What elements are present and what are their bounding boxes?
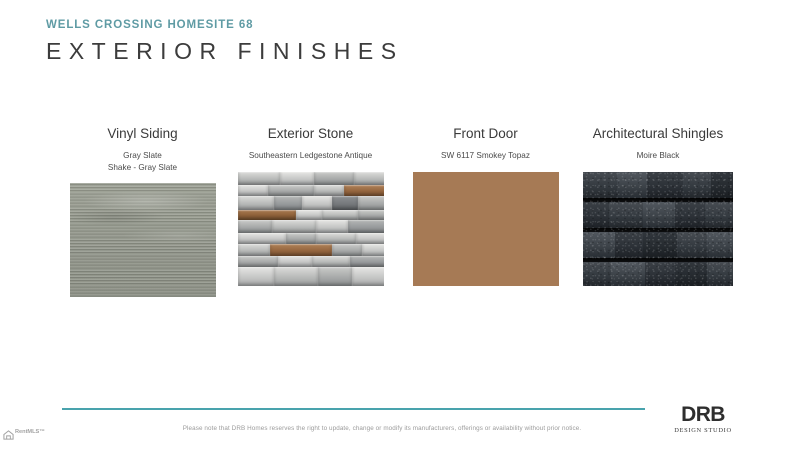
exterior-finishes-slide: WELLS CROSSING HOMESITE 68 EXTERIOR FINI… <box>0 0 800 450</box>
finish-column-vinyl-siding: Vinyl Siding Gray Slate Shake - Gray Sla… <box>65 126 220 297</box>
finish-column-architectural-shingles: Architectural Shingles Moire Black <box>578 126 738 286</box>
front-door-swatch <box>413 172 559 286</box>
mls-watermark-text: RentMLS™ <box>15 429 45 436</box>
finish-title: Architectural Shingles <box>578 126 738 142</box>
finish-subline: Gray Slate <box>65 150 220 162</box>
finish-sublines: Southeastern Ledgestone Antique <box>233 150 388 162</box>
footer-divider <box>62 408 645 410</box>
finish-title: Vinyl Siding <box>65 126 220 142</box>
finish-subline: SW 6117 Smokey Topaz <box>408 150 563 162</box>
architectural-shingles-swatch <box>583 172 733 286</box>
finish-sublines: Moire Black <box>578 150 738 162</box>
finish-column-exterior-stone: Exterior Stone Southeastern Ledgestone A… <box>233 126 388 286</box>
vinyl-siding-swatch <box>70 183 216 297</box>
finish-subline: Moire Black <box>578 150 738 162</box>
page-title: EXTERIOR FINISHES <box>46 37 404 65</box>
finish-subline: Southeastern Ledgestone Antique <box>233 150 388 162</box>
finish-sublines: SW 6117 Smokey Topaz <box>408 150 563 162</box>
finish-title: Exterior Stone <box>233 126 388 142</box>
exterior-stone-swatch <box>238 172 384 286</box>
mls-watermark: RentMLS™ <box>3 427 45 438</box>
drb-logo-mark: DRB <box>660 404 746 426</box>
slide-header: WELLS CROSSING HOMESITE 68 EXTERIOR FINI… <box>46 18 404 65</box>
finish-subline: Shake - Gray Slate <box>65 162 220 174</box>
house-icon <box>3 427 14 438</box>
drb-design-studio-logo: DRB DESIGN STUDIO <box>660 404 746 435</box>
drb-logo-subtitle: DESIGN STUDIO <box>660 427 746 435</box>
footer-disclaimer-text: Please note that DRB Homes reserves the … <box>183 424 582 433</box>
finish-sublines: Gray Slate Shake - Gray Slate <box>65 150 220 173</box>
finish-column-front-door: Front Door SW 6117 Smokey Topaz <box>408 126 563 286</box>
homesite-kicker: WELLS CROSSING HOMESITE 68 <box>46 18 404 32</box>
finish-title: Front Door <box>408 126 563 142</box>
